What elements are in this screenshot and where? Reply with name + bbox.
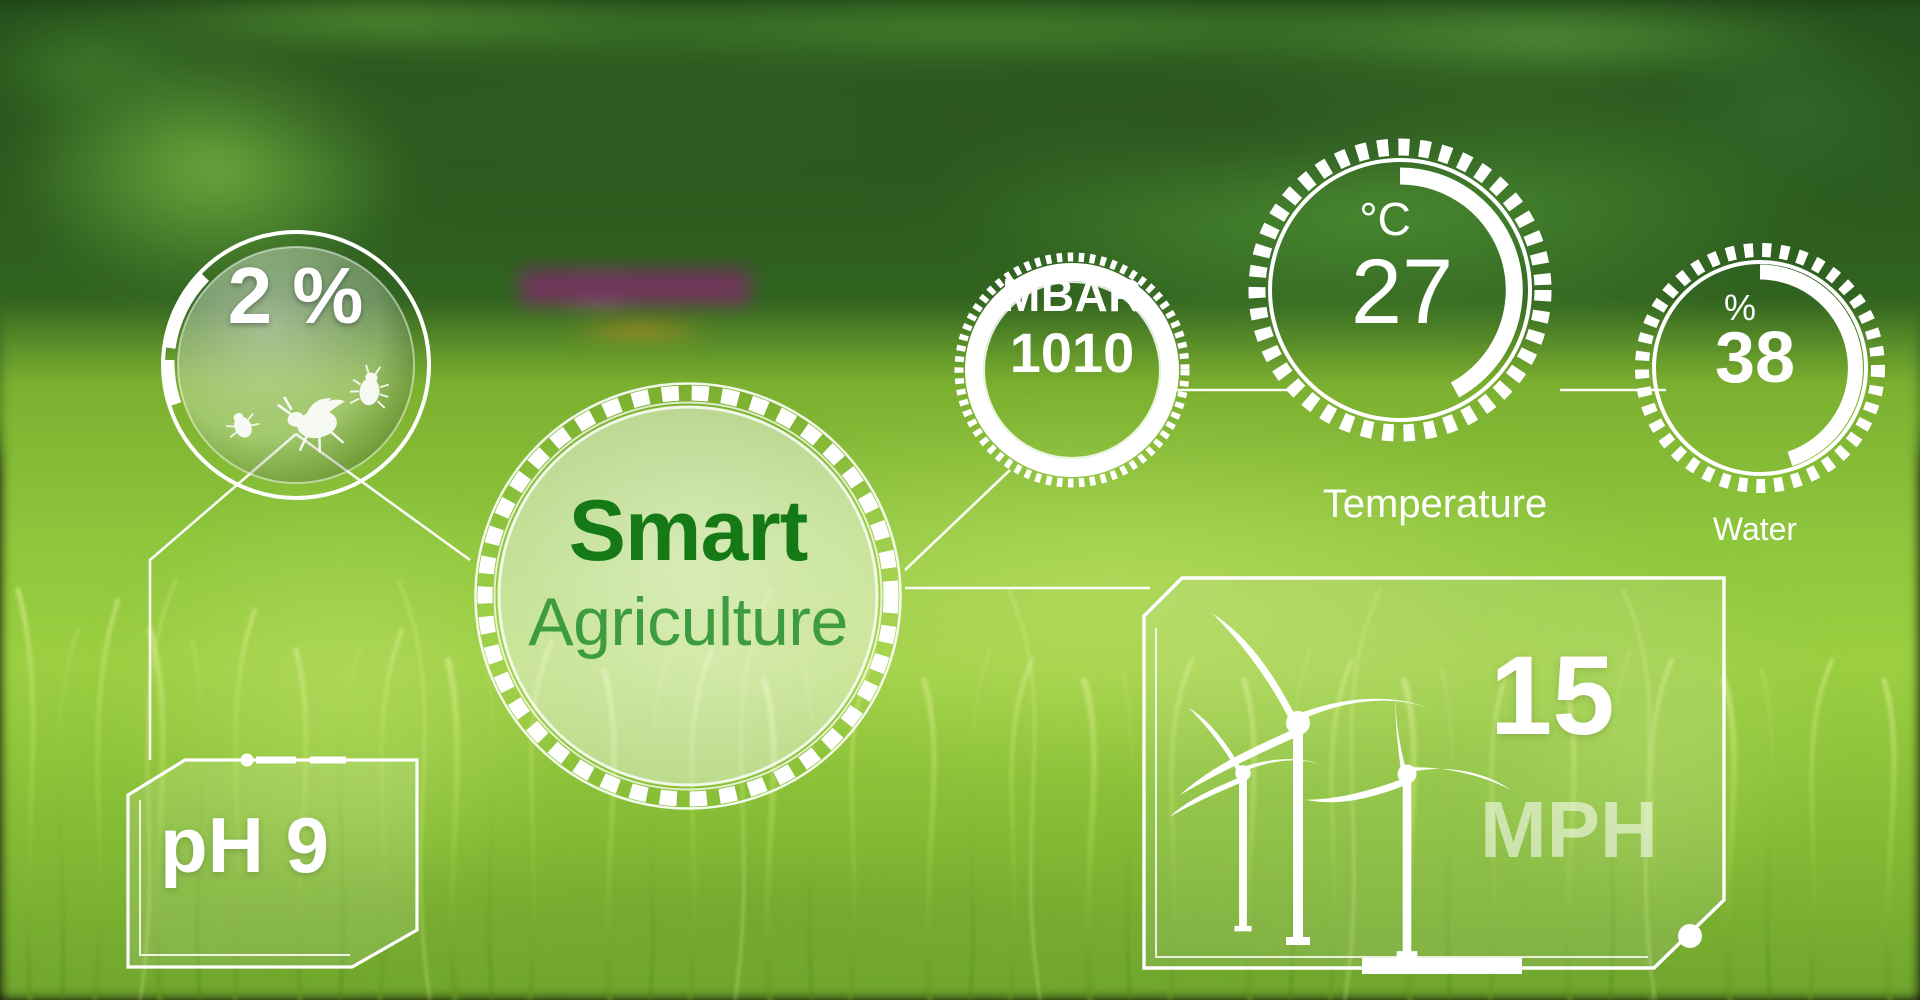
hud-overlay: 2 % MBAR 1010 °C 27 Temperature % 38 Wat…	[0, 0, 1920, 1000]
connector-brand-to-pressure	[905, 470, 1010, 570]
wind-panel-fill	[1144, 578, 1724, 968]
temperature-unit: °C	[1340, 196, 1430, 242]
connector-pest-to-ph	[150, 434, 296, 760]
wind-panel-corner-dot	[1678, 924, 1702, 948]
wind-speed-value: 15	[1490, 640, 1690, 752]
pest-value: 2 %	[205, 256, 385, 336]
temperature-label: Temperature	[1270, 484, 1600, 524]
brand-title: Smart	[498, 488, 878, 574]
ph-panel-marker-dot	[241, 754, 254, 767]
wind-panel-bottom-bar	[1362, 958, 1522, 974]
water-label: Water	[1655, 513, 1855, 545]
ph-value: pH 9	[160, 806, 420, 884]
panel-wind[interactable]	[1144, 578, 1724, 974]
brand-text-block: Smart Agriculture	[498, 488, 878, 656]
wind-speed-unit: MPH	[1480, 790, 1710, 870]
pressure-unit: MBAR	[972, 272, 1172, 318]
smart-agriculture-hud-scene: 2 % MBAR 1010 °C 27 Temperature % 38 Wat…	[0, 0, 1920, 1000]
brand-subtitle: Agriculture	[498, 588, 878, 656]
water-value: 38	[1680, 322, 1830, 394]
pressure-value: 1010	[972, 325, 1172, 381]
temperature-value: 27	[1322, 246, 1482, 338]
